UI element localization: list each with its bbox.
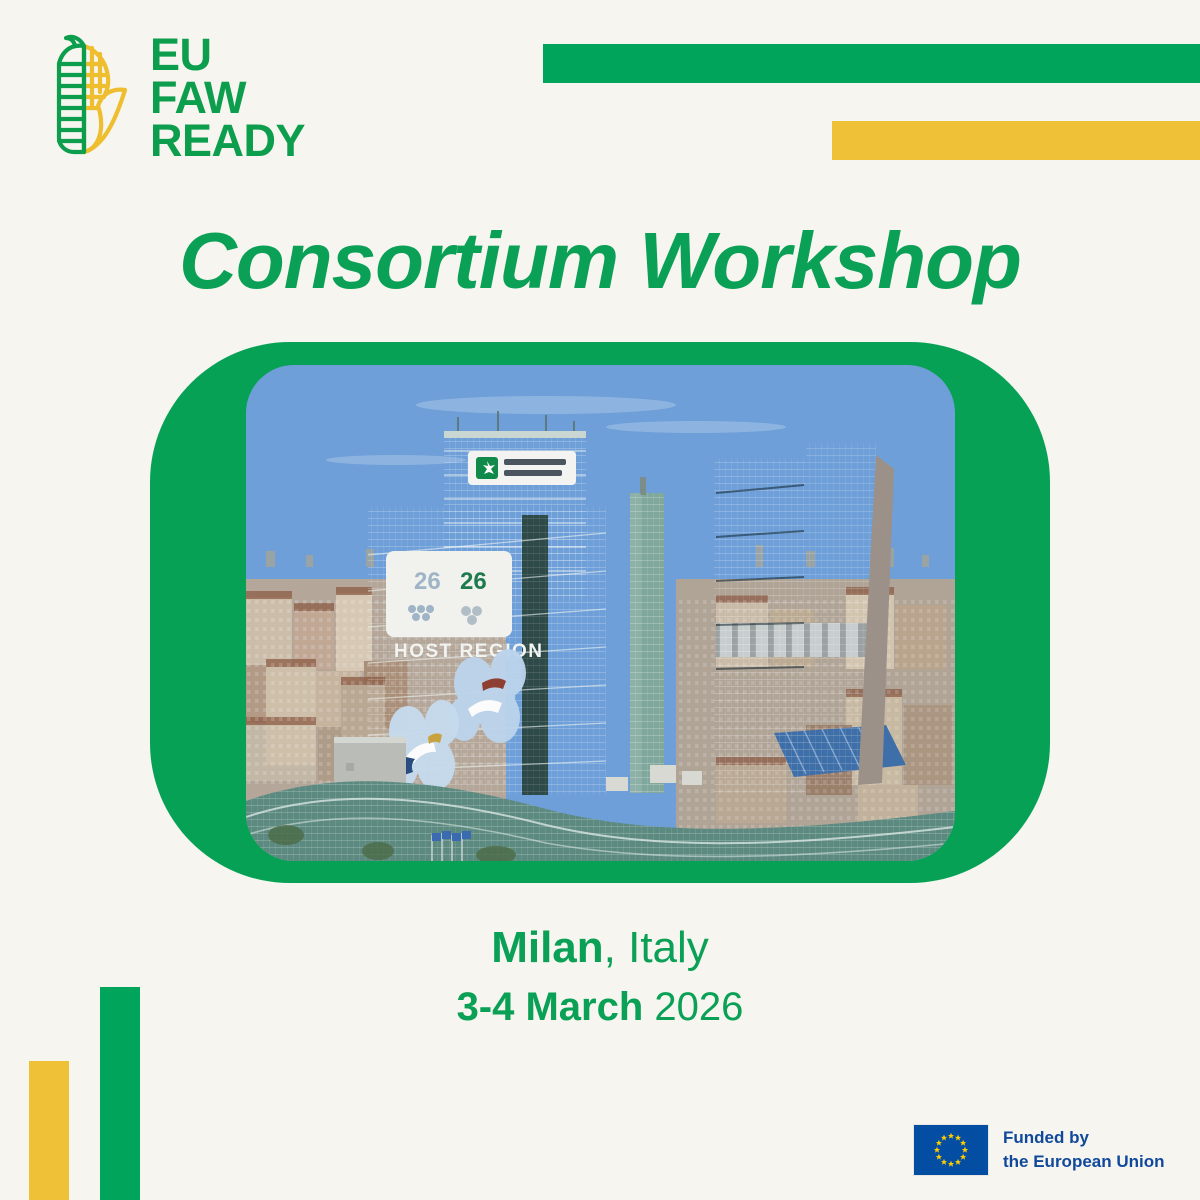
eu-funding-line-2: the European Union <box>1003 1150 1165 1174</box>
eu-funding-line-1: Funded by <box>1003 1126 1165 1150</box>
date-line: 3-4 March 2026 <box>0 982 1200 1033</box>
logo-wordmark: EU FAW READY <box>150 32 305 162</box>
milan-skyline-photo: 26 26 HOST REGION <box>246 365 955 861</box>
logo-line-ready: READY <box>150 120 305 163</box>
eu-funding-text: Funded by the European Union <box>1003 1126 1165 1174</box>
poster-canvas: EU FAW READY Consortium Workshop <box>0 0 1200 1200</box>
eu-flag-icon <box>913 1124 989 1176</box>
logo-line-faw: FAW <box>150 77 305 120</box>
svg-text:26: 26 <box>460 568 487 595</box>
date-days: 3-4 March <box>457 985 644 1029</box>
svg-text:26: 26 <box>414 568 441 595</box>
eu-faw-ready-logo: EU FAW READY <box>40 32 305 162</box>
eu-funding-badge: Funded by the European Union <box>913 1124 1165 1176</box>
bottom-yellow-accent-bar <box>29 1061 69 1200</box>
location-line: Milan, Italy <box>0 920 1200 976</box>
location-city: Milan <box>491 923 603 972</box>
logo-line-eu: EU <box>150 34 305 77</box>
page-title: Consortium Workshop <box>0 215 1200 307</box>
location-country: , Italy <box>604 923 709 972</box>
date-year: 2026 <box>643 985 743 1029</box>
top-yellow-accent-bar <box>832 121 1200 160</box>
photo-frame: 26 26 HOST REGION <box>150 342 1050 883</box>
corn-cob-icon <box>40 32 132 157</box>
top-green-accent-bar <box>543 44 1200 83</box>
